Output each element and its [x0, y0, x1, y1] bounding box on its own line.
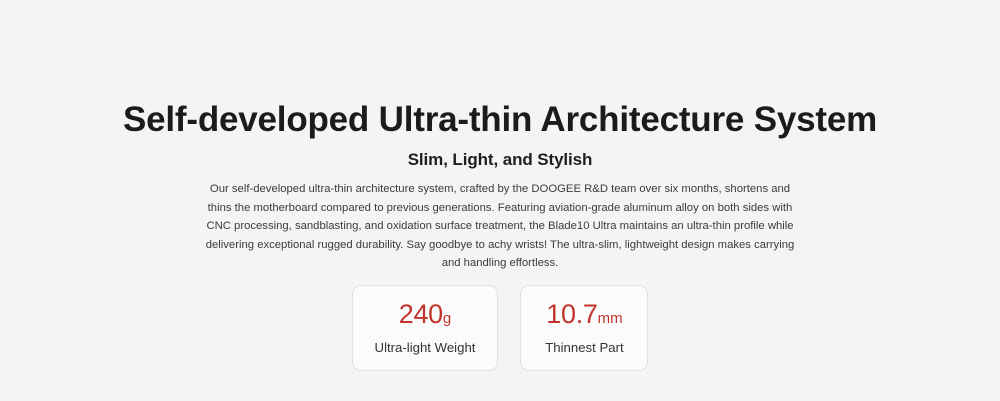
spec-label-weight: Ultra-light Weight — [375, 338, 476, 357]
spec-number-thickness: 10.7 — [546, 299, 597, 329]
spec-card-thickness: 10.7mm Thinnest Part — [520, 285, 648, 371]
spec-value-thickness: 10.7mm — [543, 298, 625, 335]
spec-value-weight: 240g — [375, 298, 476, 335]
spec-unit-thickness: mm — [598, 310, 623, 327]
product-feature-section: Self-developed Ultra-thin Architecture S… — [0, 0, 1000, 401]
spec-label-thickness: Thinnest Part — [543, 338, 625, 357]
spec-card-list: 240g Ultra-light Weight 10.7mm Thinnest … — [0, 285, 1000, 371]
section-description: Our self-developed ultra-thin architectu… — [205, 180, 795, 273]
spec-number-weight: 240 — [399, 299, 443, 329]
spec-unit-weight: g — [443, 310, 451, 327]
section-subtitle: Slim, Light, and Stylish — [0, 148, 1000, 172]
spec-card-weight: 240g Ultra-light Weight — [352, 285, 499, 371]
page-title: Self-developed Ultra-thin Architecture S… — [0, 99, 1000, 141]
